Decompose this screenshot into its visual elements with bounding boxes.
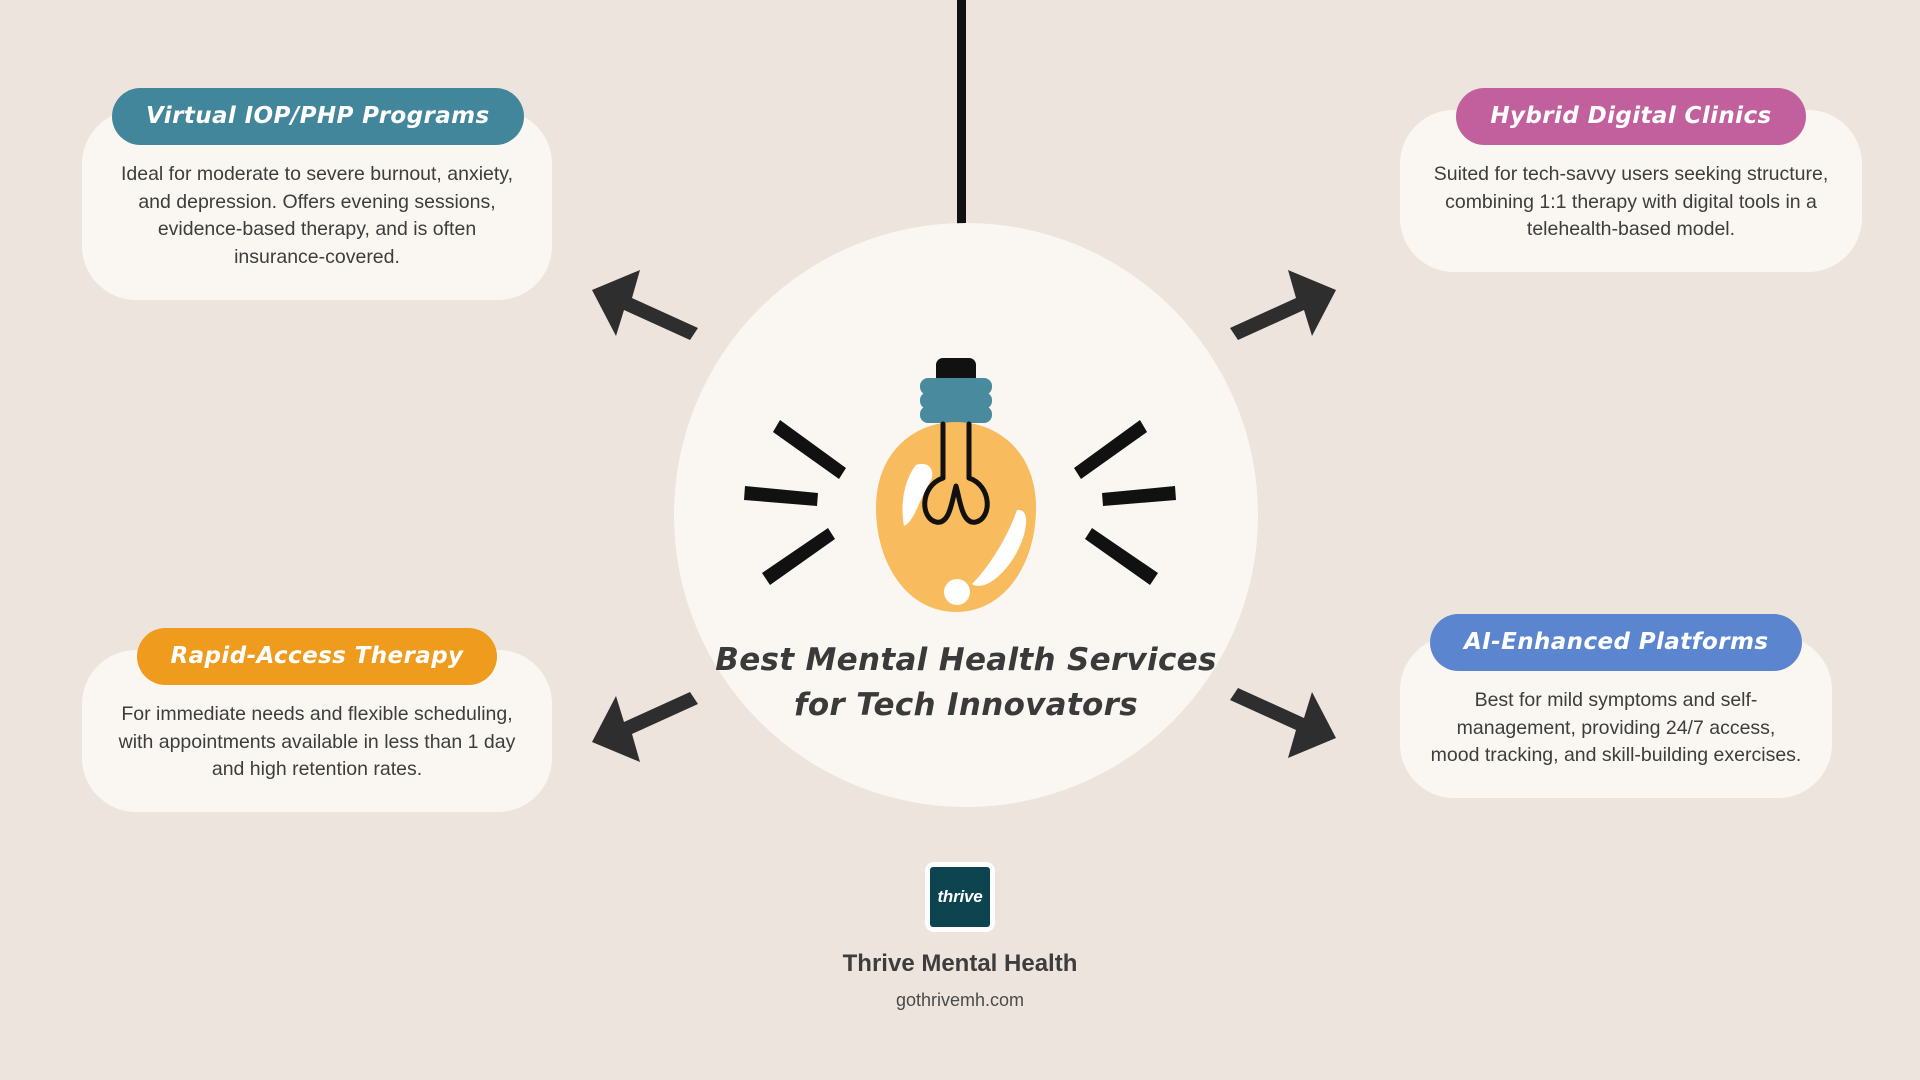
infographic-canvas: Best Mental Health Services for Tech Inn… [0,0,1920,1080]
card-hybrid-digital-clinics[interactable]: Hybrid Digital Clinics Suited for tech-s… [1400,110,1862,272]
arrow-up-left-icon [586,262,706,342]
center-title: Best Mental Health Services for Tech Inn… [704,638,1228,728]
brand-url[interactable]: gothrivemh.com [0,990,1920,1011]
card-body-hybrid-digital-clinics: Suited for tech-savvy users seeking stru… [1430,161,1832,244]
card-header-ai-enhanced-platforms: AI-Enhanced Platforms [1430,614,1802,671]
footer-branding: thrive Thrive Mental Health gothrivemh.c… [0,862,1920,1011]
center-title-line-1: Best Mental Health Services [704,638,1228,683]
card-rapid-access-therapy[interactable]: Rapid-Access Therapy For immediate needs… [82,650,552,812]
card-body-virtual-iop-php-programs: Ideal for moderate to severe burnout, an… [112,161,522,272]
arrow-down-left-icon [586,690,706,770]
card-virtual-iop-php-programs[interactable]: Virtual IOP/PHP Programs Ideal for moder… [82,110,552,300]
card-body-ai-enhanced-platforms: Best for mild symptoms and self-manageme… [1430,687,1802,770]
card-header-rapid-access-therapy: Rapid-Access Therapy [137,628,498,685]
lightbulb-icon [740,330,1180,630]
brand-logo: thrive [925,862,995,932]
card-body-rapid-access-therapy: For immediate needs and flexible schedul… [112,701,522,784]
arrow-down-right-icon [1222,686,1342,766]
brand-name: Thrive Mental Health [0,950,1920,978]
card-header-hybrid-digital-clinics: Hybrid Digital Clinics [1456,88,1805,145]
center-title-line-2: for Tech Innovators [704,683,1228,728]
arrow-up-right-icon [1222,262,1342,342]
logo-square: thrive [930,867,990,927]
card-ai-enhanced-platforms[interactable]: AI-Enhanced Platforms Best for mild symp… [1400,636,1832,798]
card-header-virtual-iop-php-programs: Virtual IOP/PHP Programs [112,88,524,145]
logo-wordmark: thrive [937,887,982,907]
